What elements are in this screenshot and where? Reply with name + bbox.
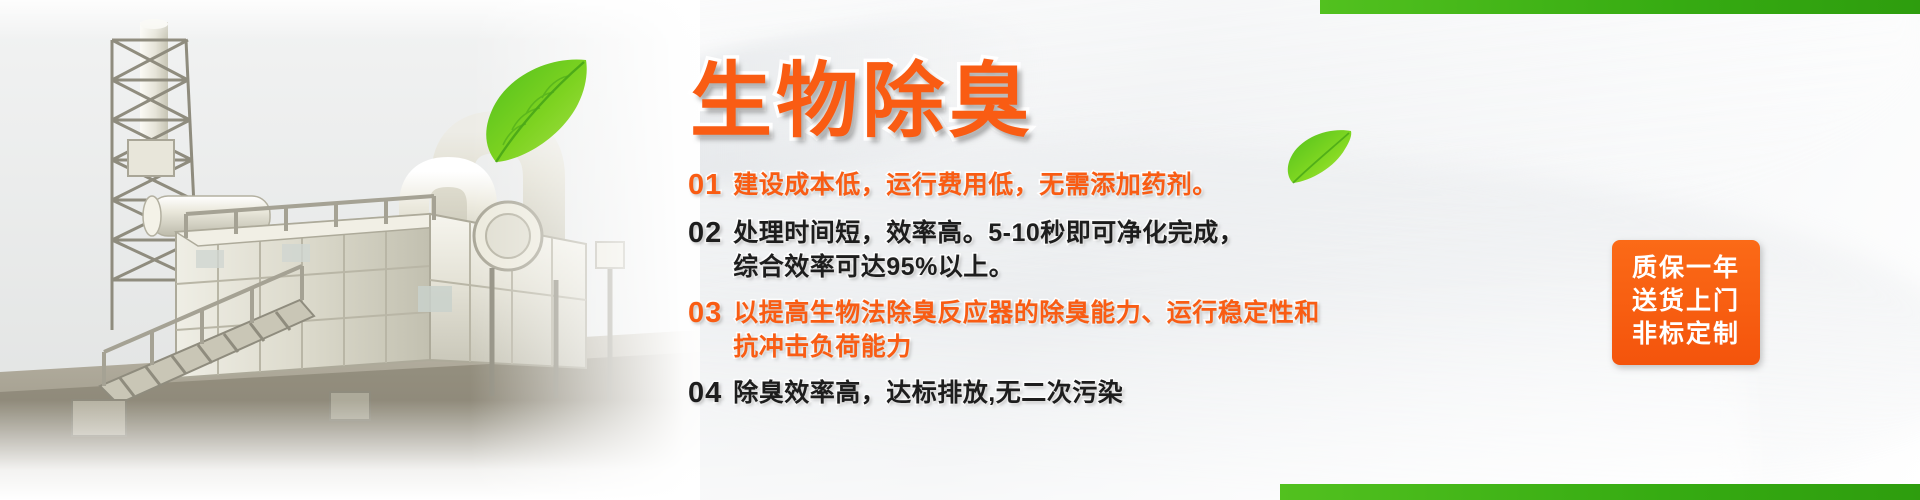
feature-item-01: 01 建设成本低，运行费用低，无需添加药剂。 (688, 168, 1448, 202)
promo-banner: 生物除臭 01 建设成本低，运行费用低，无需添加药剂。 02 处理时间短，效率高… (0, 0, 1920, 500)
feature-line: 建设成本低，运行费用低，无需添加药剂。 (733, 171, 1218, 199)
badge-line-delivery: 送货上门 (1632, 285, 1740, 318)
banner-content: 生物除臭 01 建设成本低，运行费用低，无需添加药剂。 02 处理时间短，效率高… (688, 0, 1448, 500)
feature-item-04: 04 除臭效率高，达标排放,无二次污染 (688, 376, 1448, 410)
feature-line: 处理时间短，效率高。5-10秒即可净化完成， (733, 219, 1244, 247)
feature-line: 综合效率可达95%以上。 (733, 250, 1244, 284)
badge-line-custom: 非标定制 (1632, 318, 1740, 351)
feature-number: 01 (688, 168, 733, 202)
feature-item-03: 03 以提高生物法除臭反应器的除臭能力、运行稳定性和 抗冲击负荷能力 (688, 296, 1448, 364)
feature-line: 抗冲击负荷能力 (733, 330, 1320, 364)
feature-number: 03 (688, 296, 733, 330)
feature-list: 01 建设成本低，运行费用低，无需添加药剂。 02 处理时间短，效率高。5-10… (688, 168, 1448, 420)
feature-text: 建设成本低，运行费用低，无需添加药剂。 (733, 168, 1218, 202)
page-title: 生物除臭 (690, 58, 1034, 146)
feature-line: 以提高生物法除臭反应器的除臭能力、运行稳定性和 (733, 299, 1320, 327)
feature-text: 处理时间短，效率高。5-10秒即可净化完成， 综合效率可达95%以上。 (733, 216, 1244, 284)
feature-number: 04 (688, 376, 733, 410)
leaf-icon (480, 52, 598, 175)
feature-item-02: 02 处理时间短，效率高。5-10秒即可净化完成， 综合效率可达95%以上。 (688, 216, 1448, 284)
feature-text: 除臭效率高，达标排放,无二次污染 (733, 376, 1123, 410)
badge-line-warranty: 质保一年 (1632, 252, 1740, 285)
feature-number: 02 (688, 216, 733, 250)
feature-text: 以提高生物法除臭反应器的除臭能力、运行稳定性和 抗冲击负荷能力 (733, 296, 1320, 364)
feature-line: 除臭效率高，达标排放,无二次污染 (733, 379, 1123, 407)
guarantee-badge: 质保一年 送货上门 非标定制 (1612, 240, 1760, 365)
